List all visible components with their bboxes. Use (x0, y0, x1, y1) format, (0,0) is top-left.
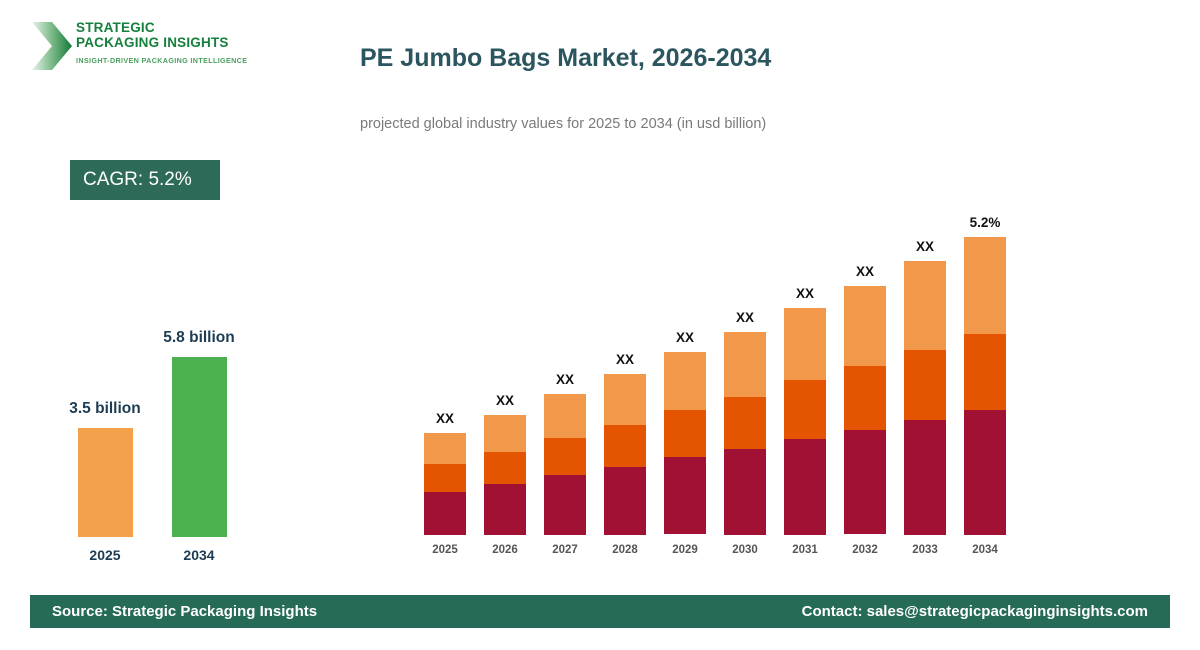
stacked-bar-label-2032: XX (830, 264, 900, 279)
stacked-segment-segment-top (604, 374, 646, 425)
stacked-bar-label-2025: XX (410, 411, 480, 426)
stacked-year-label-2034: 2034 (955, 544, 1015, 556)
footer-source: Source: Strategic Packaging Insights (52, 603, 317, 620)
stacked-bar-2034 (964, 237, 1006, 535)
stacked-segment-segment-bottom (724, 449, 766, 535)
stacked-segment-segment-top (544, 394, 586, 438)
stacked-segment-segment-top (904, 261, 946, 350)
stacked-segment-segment-bottom (664, 457, 706, 534)
footer-contact: Contact: sales@strategicpackaginginsight… (802, 603, 1148, 620)
stacked-bar-2030 (724, 332, 766, 535)
segment-stacked-forecast-chart: XX2025XX2026XX2027XX2028XX2029XX2030XX20… (410, 200, 1010, 560)
stacked-bar-label-2026: XX (470, 393, 540, 408)
chevron-right-icon (30, 20, 74, 72)
stacked-segment-segment-middle (664, 410, 706, 457)
stacked-segment-segment-bottom (784, 439, 826, 535)
stacked-segment-segment-middle (784, 380, 826, 439)
stacked-segment-segment-top (964, 237, 1006, 334)
stacked-segment-segment-top (724, 332, 766, 397)
stacked-segment-segment-middle (904, 350, 946, 420)
stacked-segment-segment-middle (424, 464, 466, 492)
stacked-year-label-2028: 2028 (595, 544, 655, 556)
stacked-bar-label-2027: XX (530, 372, 600, 387)
stacked-year-label-2033: 2033 (895, 544, 955, 556)
stacked-segment-segment-top (424, 433, 466, 464)
stacked-segment-segment-top (784, 308, 826, 380)
stacked-segment-segment-middle (544, 438, 586, 475)
stacked-segment-segment-bottom (964, 410, 1006, 535)
stacked-bar-2033 (904, 261, 946, 535)
stacked-year-label-2029: 2029 (655, 544, 715, 556)
stacked-year-label-2026: 2026 (475, 544, 535, 556)
cagr-badge: CAGR: 5.2% (70, 160, 220, 200)
stacked-year-label-2030: 2030 (715, 544, 775, 556)
stacked-bar-label-2033: XX (890, 239, 960, 254)
stacked-bar-2028 (604, 374, 646, 535)
stacked-segment-segment-top (664, 352, 706, 410)
stacked-segment-segment-bottom (604, 467, 646, 535)
market-size-comparison-chart: 3.5 billion20255.8 billion2034 (60, 320, 280, 570)
brand-name-line1: STRATEGIC (76, 20, 291, 35)
stacked-bar-label-2028: XX (590, 352, 660, 367)
chart-infographic: STRATEGIC PACKAGING INSIGHTS INSIGHT-DRI… (0, 0, 1200, 650)
comparison-value-label-2034: 5.8 billion (119, 329, 279, 347)
stacked-bar-2026 (484, 415, 526, 535)
brand-tagline: INSIGHT-DRIVEN PACKAGING INTELLIGENCE (76, 56, 291, 65)
stacked-segment-segment-middle (484, 452, 526, 484)
stacked-year-label-2027: 2027 (535, 544, 595, 556)
stacked-segment-segment-bottom (544, 475, 586, 535)
comparison-bar-2025 (78, 428, 133, 537)
stacked-segment-segment-middle (604, 425, 646, 467)
comparison-bar-fill (172, 357, 227, 537)
stacked-segment-segment-bottom (484, 484, 526, 535)
stacked-year-label-2032: 2032 (835, 544, 895, 556)
stacked-bar-2025 (424, 433, 466, 535)
brand-name-line2: PACKAGING INSIGHTS (76, 35, 291, 50)
comparison-value-label-2025: 3.5 billion (25, 400, 185, 418)
stacked-bar-label-2030: XX (710, 310, 780, 325)
brand-logo: STRATEGIC PACKAGING INSIGHTS INSIGHT-DRI… (30, 18, 290, 80)
stacked-bar-label-2029: XX (650, 330, 720, 345)
stacked-segment-segment-bottom (424, 492, 466, 535)
stacked-segment-segment-middle (844, 366, 886, 430)
stacked-segment-segment-top (484, 415, 526, 452)
stacked-bar-2031 (784, 308, 826, 535)
stacked-year-label-2031: 2031 (775, 544, 835, 556)
page-title: PE Jumbo Bags Market, 2026-2034 (360, 44, 771, 73)
page-subtitle: projected global industry values for 202… (360, 116, 766, 132)
stacked-bar-2032 (844, 286, 886, 535)
stacked-segment-segment-middle (724, 397, 766, 450)
stacked-year-label-2025: 2025 (415, 544, 475, 556)
footer-bar: Source: Strategic Packaging Insights Con… (30, 595, 1170, 628)
stacked-segment-segment-bottom (844, 430, 886, 534)
comparison-year-label-2025: 2025 (60, 547, 150, 563)
stacked-segment-segment-middle (964, 334, 1006, 410)
stacked-bar-label-2031: XX (770, 286, 840, 301)
comparison-year-label-2034: 2034 (154, 547, 244, 563)
brand-name: STRATEGIC PACKAGING INSIGHTS INSIGHT-DRI… (76, 20, 291, 65)
comparison-bar-fill (78, 428, 133, 537)
stacked-bar-2029 (664, 352, 706, 535)
stacked-bar-2027 (544, 394, 586, 535)
stacked-segment-segment-top (844, 286, 886, 366)
stacked-bar-label-2034: 5.2% (950, 215, 1020, 230)
cagr-badge-label: CAGR: 5.2% (83, 169, 192, 191)
comparison-bar-2034 (172, 357, 227, 537)
stacked-segment-segment-bottom (904, 420, 946, 535)
